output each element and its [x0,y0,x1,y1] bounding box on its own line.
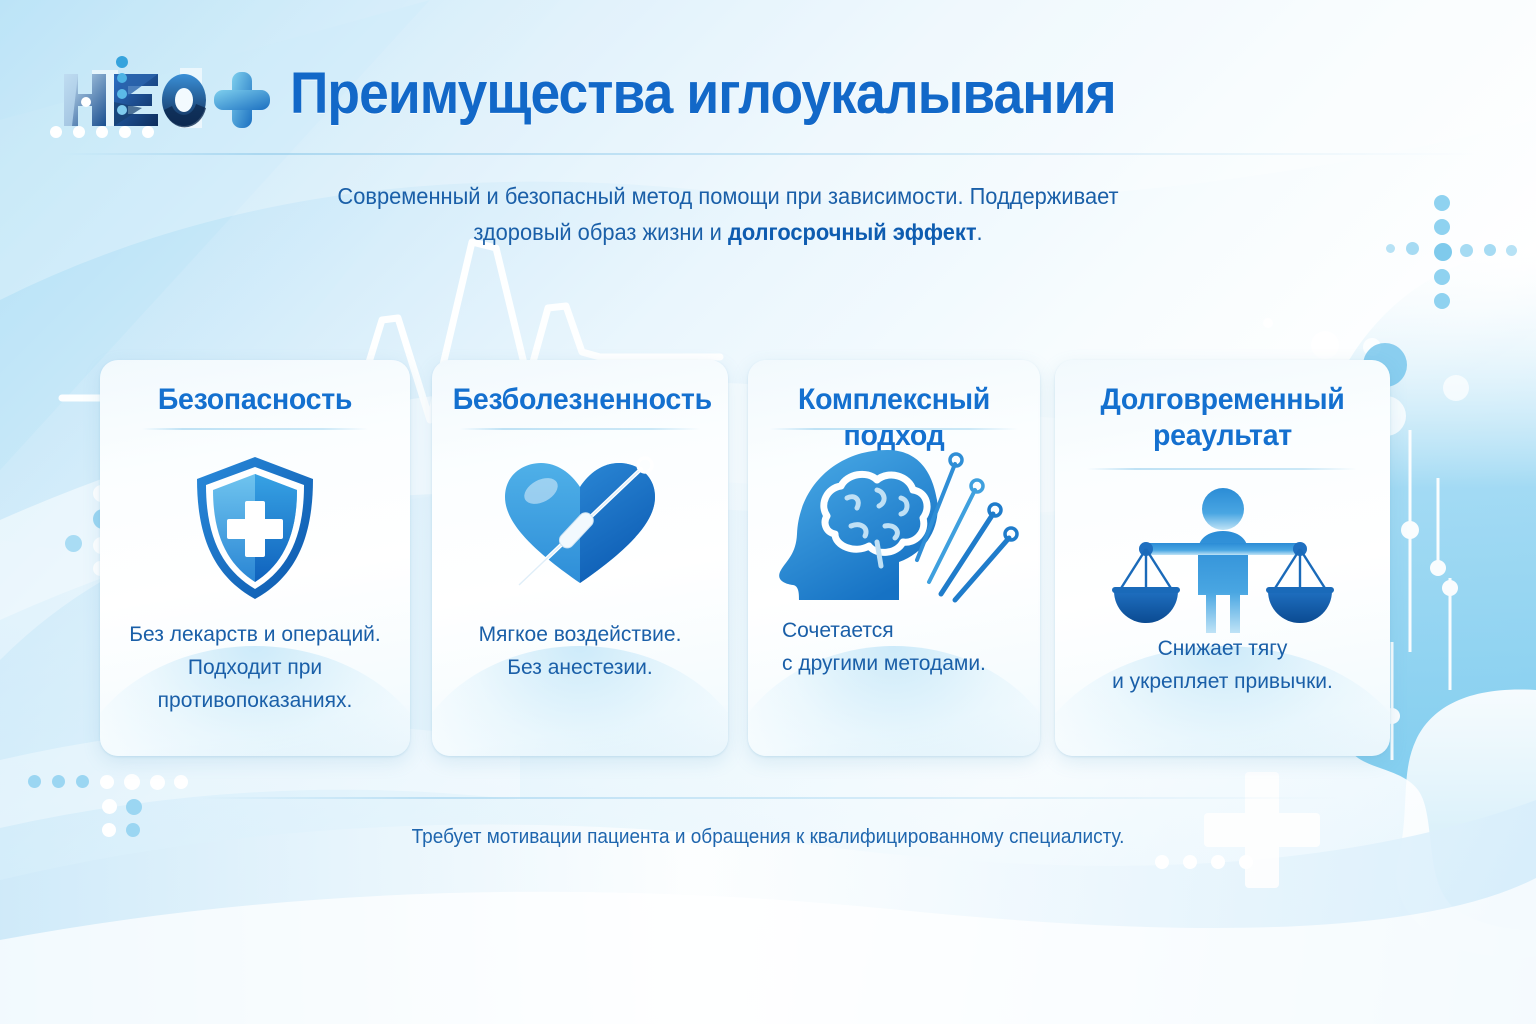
header-divider [60,153,1476,155]
card-title-rule [770,428,1018,430]
card-long-term-result[interactable]: Долговременный реаультат [1055,360,1390,756]
card-title-painless: Безболезненность [453,382,708,418]
card-text-line-1: Сочетается [782,619,894,642]
footer-note: Требует мотивации пациента и обращения к… [38,826,1497,849]
card-complex-approach[interactable]: Комплексный подход [748,360,1040,756]
subtitle-highlight: долгосрочный эффект [728,219,977,245]
footer-divider [200,797,1340,799]
card-title-rule [1087,468,1357,470]
subtitle-line-2-prefix: здоровый образ жизни и [473,219,728,245]
card-text-long-term-result: Снижает тягу и укрепляет привычки. [1065,632,1380,698]
balance-person-icon [1055,482,1390,642]
card-text-line-2: Подходит при [188,656,322,679]
subtitle-line-2-suffix: . [977,219,983,245]
card-title-line-1: Долговременный [1100,383,1344,416]
card-text-painless: Мягкое воздействие. Без анестезии. [442,618,718,684]
card-text-line-1: Снижает тягу [1158,637,1288,660]
card-text-line-2: Без анестезии. [507,656,652,679]
page-title: Преимущества иглоукалывания [290,60,1136,127]
card-text-line-2: с другими методами. [782,652,986,675]
shield-cross-icon [100,448,410,608]
card-text-complex-approach: Сочетается с другими методами. [782,614,1030,680]
infographic-poster: Преимущества иглоукалывания Современный … [0,0,1536,1024]
card-text-safety: Без лекарств и операций. Подходит при пр… [110,618,400,717]
card-text-line-2: и укрепляет привычки. [1112,670,1333,693]
card-title-long-term-result: Долговременный реаультат [1077,382,1369,454]
card-title-safety: Безопасность [121,382,389,418]
card-title-rule [460,428,700,430]
subtitle-line-1: Современный и безопасный метод помощи пр… [337,183,1118,209]
page-subtitle: Современный и безопасный метод помощи пр… [291,178,1165,250]
card-title-line-2: реаультат [1153,419,1292,452]
card-text-line-1: Без лекарств и операций. [129,623,381,646]
card-text-line-3: противопоказаниях. [158,689,353,712]
card-text-line-1: Мягкое воздействие. [479,623,682,646]
card-painless[interactable]: Безболезненность [432,360,728,756]
neo-plus-logo[interactable] [46,52,276,140]
card-title-rule [142,428,368,430]
benefit-cards: Безопасность [0,360,1536,760]
head-brain-needles-icon [748,442,1040,612]
heart-needle-icon [432,448,728,608]
card-safety[interactable]: Безопасность [100,360,410,756]
